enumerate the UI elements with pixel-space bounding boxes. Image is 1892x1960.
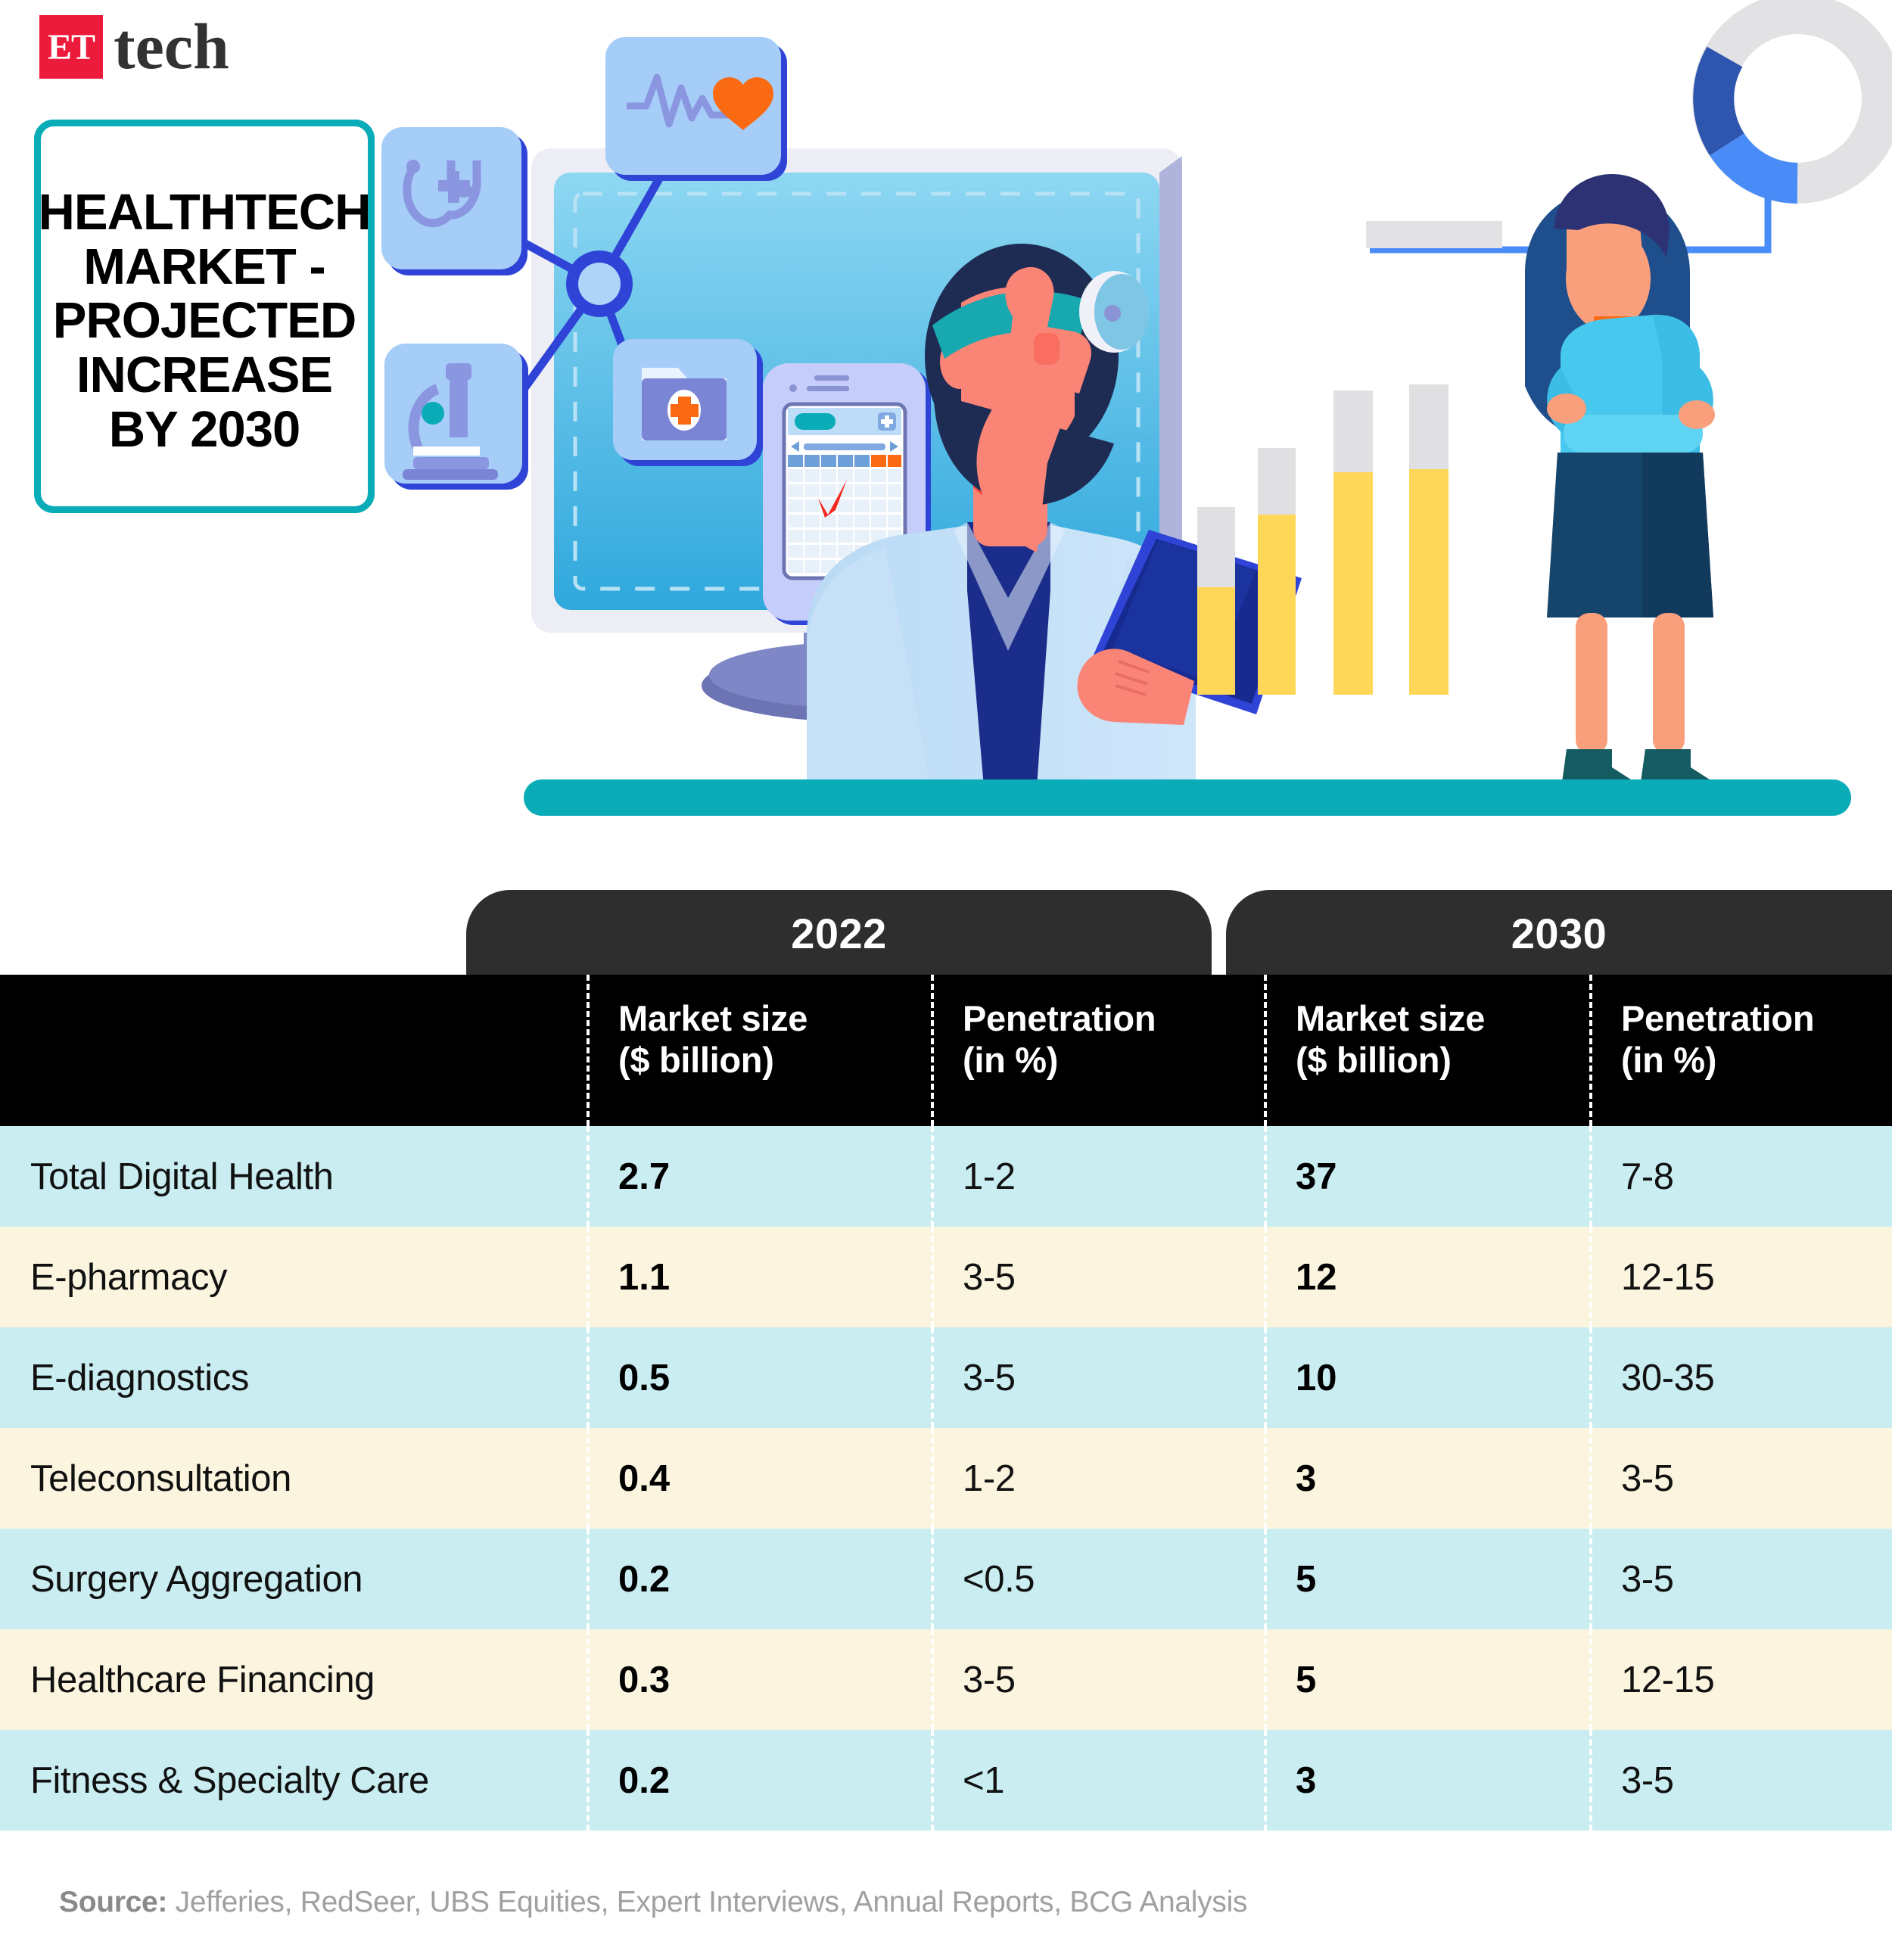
row-category: Surgery Aggregation [0,1558,587,1601]
row-category: E-pharmacy [0,1256,587,1299]
cell-2022-penetration: 3-5 [931,1659,1264,1701]
row-category: Total Digital Health [0,1156,587,1198]
cell-2022-market: 2.7 [587,1156,931,1198]
table-row: Teleconsultation0.41-233-5 [0,1428,1892,1529]
cell-2022-market: 0.2 [587,1558,931,1601]
cell-2030-penetration: 7-8 [1589,1156,1892,1198]
cell-2022-market: 0.2 [587,1759,931,1802]
column-divider [1264,975,1267,1126]
cell-2030-market: 3 [1264,1458,1589,1500]
year-tabs: 2022 2030 [0,890,1892,977]
microscope-card [384,344,528,490]
cell-2030-market: 12 [1264,1256,1589,1299]
source-text: Jefferies, RedSeer, UBS Equities, Expert… [167,1886,1247,1918]
column-divider [1264,1428,1267,1529]
cell-2022-penetration: 1-2 [931,1458,1264,1500]
table-header-row: Market size ($ billion) Penetration (in … [0,975,1892,1126]
column-divider [587,1730,590,1831]
table-row: Fitness & Specialty Care0.2<133-5 [0,1730,1892,1831]
medical-folder-card [613,339,763,466]
stethoscope-card [381,127,527,275]
header-2030-penetration: Penetration (in %) [1589,975,1892,1126]
column-divider [1264,1529,1267,1629]
cell-2030-market: 10 [1264,1357,1589,1399]
cell-2022-market: 0.4 [587,1458,931,1500]
column-divider [931,1730,934,1831]
cell-2030-penetration: 30-35 [1589,1357,1892,1399]
column-divider [587,1227,590,1327]
table-row: Healthcare Financing0.33-5512-15 [0,1629,1892,1730]
tab-2030[interactable]: 2030 [1226,890,1892,977]
column-divider [1264,1730,1267,1831]
source-label: Source: [59,1886,167,1918]
column-divider [931,1529,934,1629]
donut-chart [1713,14,1882,183]
tab-2022-label: 2022 [791,909,887,958]
column-divider [931,1629,934,1730]
cell-2030-penetration: 3-5 [1589,1558,1892,1601]
table-row: E-diagnostics0.53-51030-35 [0,1327,1892,1428]
cell-2022-market: 0.5 [587,1357,931,1399]
column-divider [931,1327,934,1428]
cell-2030-market: 3 [1264,1759,1589,1802]
cell-2022-penetration: 1-2 [931,1156,1264,1198]
tab-2022[interactable]: 2022 [466,890,1212,977]
row-category: E-diagnostics [0,1357,587,1399]
cell-2030-market: 5 [1264,1558,1589,1601]
cell-2022-penetration: 3-5 [931,1357,1264,1399]
column-divider [587,1629,590,1730]
table-row: Total Digital Health2.71-2377-8 [0,1126,1892,1227]
cell-2030-market: 37 [1264,1156,1589,1198]
column-divider [587,1428,590,1529]
heartbeat-card [605,37,787,181]
table-row: E-pharmacy1.13-51212-15 [0,1227,1892,1327]
column-divider [1264,1227,1267,1327]
header-2022-penetration: Penetration (in %) [931,975,1264,1126]
header-category [0,975,587,1126]
cell-2030-penetration: 12-15 [1589,1659,1892,1701]
column-divider [1589,975,1592,1126]
woman-figure [1525,174,1715,793]
healthtech-illustration [356,0,1892,916]
column-divider [1589,1227,1592,1327]
header-2022-market-size: Market size ($ billion) [587,975,931,1126]
floor-bar [524,779,1851,816]
et-logo-text: ET [48,26,95,68]
cell-2022-market: 1.1 [587,1256,931,1299]
ettech-logo: ET tech [39,15,229,79]
cell-2030-penetration: 12-15 [1589,1256,1892,1299]
column-divider [931,1428,934,1529]
cell-2022-market: 0.3 [587,1659,931,1701]
column-divider [1264,1629,1267,1730]
cell-2022-penetration: 3-5 [931,1256,1264,1299]
column-divider [1589,1629,1592,1730]
row-category: Healthcare Financing [0,1659,587,1701]
column-divider [587,1327,590,1428]
column-divider [587,975,590,1126]
column-divider [931,1227,934,1327]
column-divider [1264,1327,1267,1428]
column-divider [1589,1529,1592,1629]
row-category: Teleconsultation [0,1458,587,1500]
column-divider [1589,1126,1592,1227]
row-category: Fitness & Specialty Care [0,1759,587,1802]
tech-wordmark: tech [114,17,229,76]
table-row: Surgery Aggregation0.2<0.553-5 [0,1529,1892,1629]
tab-2030-label: 2030 [1511,909,1607,958]
healthtech-table: Market size ($ billion) Penetration (in … [0,975,1892,1831]
cell-2022-penetration: <0.5 [931,1558,1264,1601]
column-divider [931,975,934,1126]
header-2030-market-size: Market size ($ billion) [1264,975,1589,1126]
column-divider [587,1529,590,1629]
page-title: HEALTHTECH MARKET - PROJECTED INCREASE B… [38,185,371,456]
cell-2030-penetration: 3-5 [1589,1458,1892,1500]
cell-2022-penetration: <1 [931,1759,1264,1802]
column-divider [587,1126,590,1227]
column-divider [1264,1126,1267,1227]
et-logo-mark: ET [39,15,103,79]
source-note: Source: Jefferies, RedSeer, UBS Equities… [59,1886,1875,1919]
cell-2030-market: 5 [1264,1659,1589,1701]
column-divider [1589,1730,1592,1831]
column-divider [1589,1327,1592,1428]
column-divider [1589,1428,1592,1529]
column-divider [931,1126,934,1227]
cell-2030-penetration: 3-5 [1589,1759,1892,1802]
table-body: Total Digital Health2.71-2377-8E-pharmac… [0,1126,1892,1831]
